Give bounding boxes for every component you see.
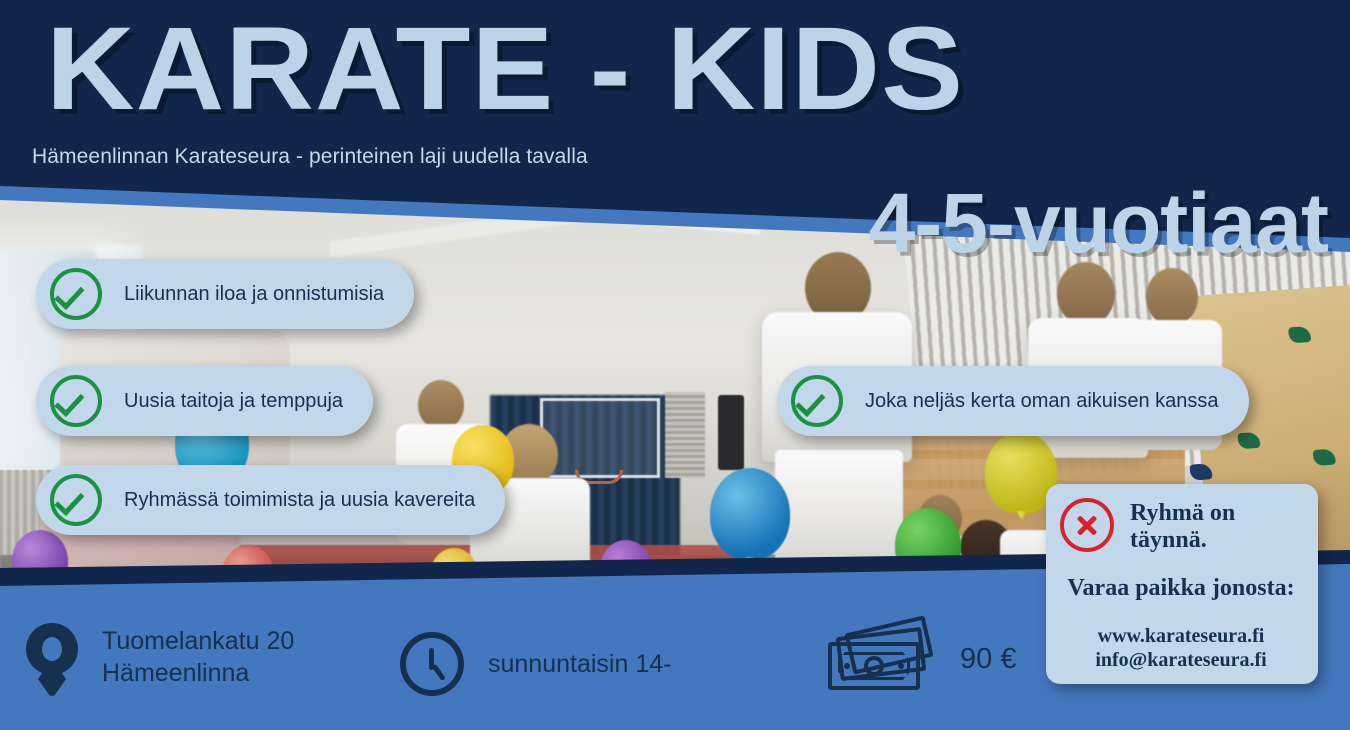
feature-pill-3: Ryhmässä toimimista ja uusia kavereita bbox=[36, 465, 505, 535]
email-link[interactable]: info@karateseura.fi bbox=[1060, 648, 1302, 672]
feature-pill-1: Liikunnan iloa ja onnistumisia bbox=[36, 259, 414, 329]
check-circle-icon bbox=[50, 268, 102, 320]
time-labels: sunnuntaisin 14- bbox=[488, 648, 671, 680]
basketball-backboard bbox=[540, 398, 660, 478]
feature-label: Ryhmässä toimimista ja uusia kavereita bbox=[124, 489, 475, 512]
location-info: Tuomelankatu 20 Hämeenlinna bbox=[26, 623, 294, 691]
notice-title-line1: Ryhmä on bbox=[1130, 500, 1235, 526]
notice-contact-links: www.karateseura.fi info@karateseura.fi bbox=[1060, 624, 1302, 672]
notice-title-line2: täynnä. bbox=[1130, 527, 1207, 553]
feature-label: Uusia taitoja ja temppuja bbox=[124, 390, 343, 413]
child-head bbox=[1146, 268, 1198, 326]
clock-icon bbox=[400, 632, 464, 696]
location-city: Hämeenlinna bbox=[102, 659, 249, 687]
balloon-blue bbox=[710, 468, 790, 560]
map-pin-icon bbox=[26, 623, 78, 691]
check-circle-icon bbox=[50, 474, 102, 526]
wall-speaker bbox=[718, 395, 744, 470]
page-subtitle: Hämeenlinnan Karateseura - perinteinen l… bbox=[32, 145, 588, 169]
climbing-hold bbox=[1237, 432, 1260, 449]
notice-header: Ryhmä on täynnä. bbox=[1060, 498, 1302, 555]
climbing-hold bbox=[1313, 449, 1336, 466]
karate-kids-poster: KARATE - KIDS Hämeenlinnan Karateseura -… bbox=[0, 0, 1350, 730]
price-label: 90 € bbox=[960, 643, 1016, 676]
notice-subtitle: Varaa paikka jonosta: bbox=[1060, 575, 1302, 602]
check-circle-icon bbox=[791, 375, 843, 427]
location-labels: Tuomelankatu 20 Hämeenlinna bbox=[102, 625, 294, 689]
climbing-hold bbox=[1189, 463, 1212, 480]
website-link[interactable]: www.karateseura.fi bbox=[1060, 624, 1302, 648]
climbing-hold bbox=[1288, 326, 1311, 343]
price-info: 90 € bbox=[828, 628, 1016, 690]
age-headline: 4-5-vuotiaat bbox=[869, 181, 1328, 265]
notice-title: Ryhmä on täynnä. bbox=[1130, 498, 1235, 555]
x-circle-icon bbox=[1060, 498, 1114, 552]
wall-vent bbox=[665, 392, 705, 478]
child-head bbox=[418, 380, 464, 430]
feature-pill-4: Joka neljäs kerta oman aikuisen kanssa bbox=[777, 366, 1249, 436]
feature-pill-2: Uusia taitoja ja temppuja bbox=[36, 366, 373, 436]
feature-label: Liikunnan iloa ja onnistumisia bbox=[124, 283, 384, 306]
location-street: Tuomelankatu 20 bbox=[102, 627, 294, 655]
page-title: KARATE - KIDS bbox=[46, 6, 964, 133]
group-full-notice-card: Ryhmä on täynnä. Varaa paikka jonosta: w… bbox=[1046, 484, 1318, 684]
money-icon bbox=[828, 628, 938, 690]
time-info: sunnuntaisin 14- bbox=[400, 632, 671, 696]
check-circle-icon bbox=[50, 375, 102, 427]
child-head bbox=[1057, 262, 1115, 326]
time-label: sunnuntaisin 14- bbox=[488, 650, 671, 678]
feature-label: Joka neljäs kerta oman aikuisen kanssa bbox=[865, 390, 1219, 413]
